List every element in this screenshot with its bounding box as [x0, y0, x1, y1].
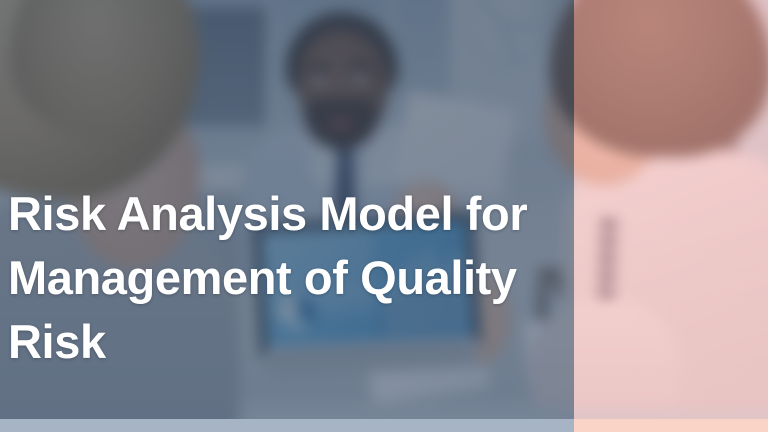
bottom-band-right	[574, 419, 768, 432]
right-color-overlay	[574, 0, 768, 432]
slide-canvas: Risk Analysis Model for Management of Qu…	[0, 0, 768, 432]
slide-title: Risk Analysis Model for Management of Qu…	[8, 182, 568, 374]
bottom-band-left	[0, 419, 574, 432]
